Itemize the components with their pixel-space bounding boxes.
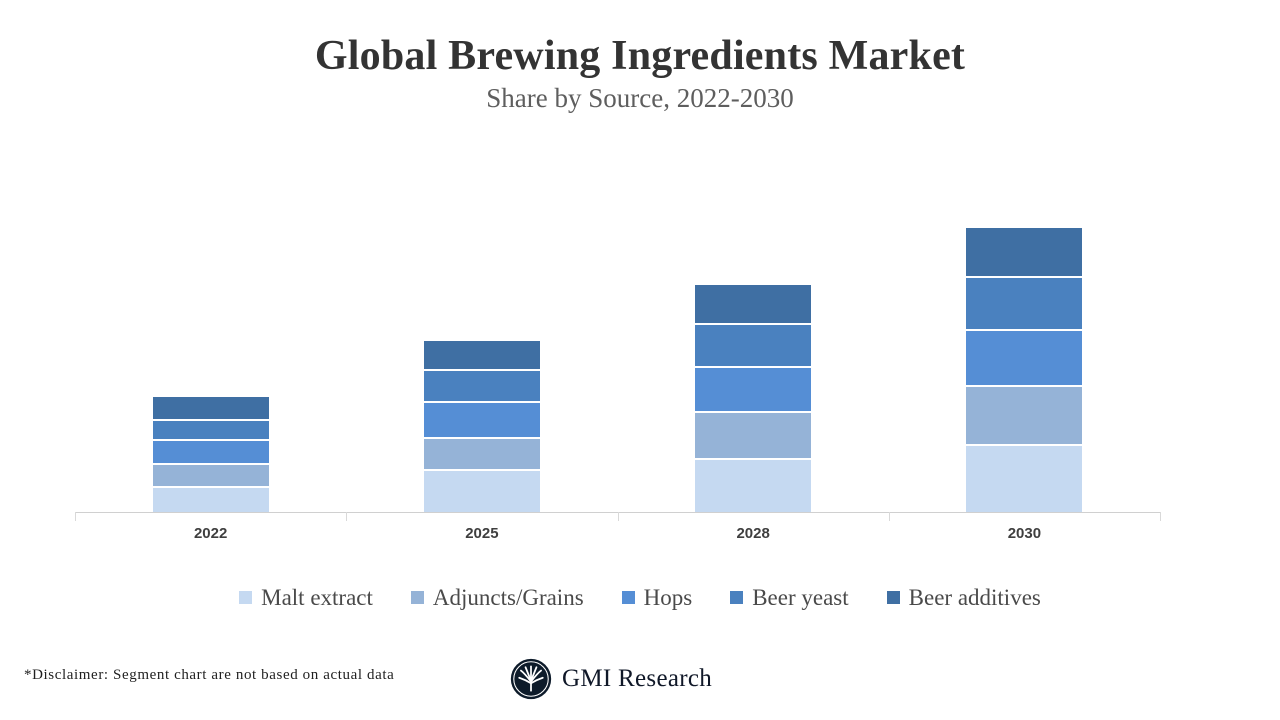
legend-label: Beer additives: [909, 586, 1041, 609]
bar-stack-2030[interactable]: [966, 228, 1082, 512]
x-axis-label-2025: 2025: [346, 525, 617, 542]
bar-segment[interactable]: [966, 331, 1082, 387]
bar-segment[interactable]: [153, 488, 269, 512]
bar-segment[interactable]: [153, 441, 269, 465]
legend-swatch-icon: [730, 591, 743, 604]
chart-title: Global Brewing Ingredients Market: [0, 34, 1280, 79]
bar-segment[interactable]: [966, 228, 1082, 278]
legend-swatch-icon: [239, 591, 252, 604]
gmi-palm-logo-icon: [510, 658, 552, 700]
legend-label: Beer yeast: [752, 586, 848, 609]
axis-tick-mark: [618, 512, 619, 521]
bar-segment[interactable]: [424, 371, 540, 404]
bar-segment[interactable]: [424, 439, 540, 472]
legend-item-2[interactable]: Hops: [622, 586, 693, 609]
legend-swatch-icon: [622, 591, 635, 604]
legend-swatch-icon: [887, 591, 900, 604]
legend-item-1[interactable]: Adjuncts/Grains: [411, 586, 584, 609]
legend-label: Hops: [644, 586, 693, 609]
bar-segment[interactable]: [695, 368, 811, 413]
axis-tick-mark: [346, 512, 347, 521]
chart-canvas: Global Brewing Ingredients Market Share …: [0, 0, 1280, 720]
bar-segment[interactable]: [695, 325, 811, 368]
axis-tick-mark: [1160, 512, 1161, 521]
legend-swatch-icon: [411, 591, 424, 604]
bar-segment[interactable]: [424, 341, 540, 371]
bar-segment[interactable]: [966, 278, 1082, 331]
bar-stack-2025[interactable]: [424, 341, 540, 512]
bar-segment[interactable]: [695, 413, 811, 459]
bar-segment[interactable]: [695, 285, 811, 325]
bar-segment[interactable]: [153, 465, 269, 488]
legend-item-0[interactable]: Malt extract: [239, 586, 373, 609]
plot-area: [75, 150, 1160, 512]
bar-segment[interactable]: [424, 403, 540, 438]
bar-segment[interactable]: [153, 421, 269, 441]
legend-item-4[interactable]: Beer additives: [887, 586, 1041, 609]
legend-label: Malt extract: [261, 586, 373, 609]
x-axis-label-2028: 2028: [618, 525, 889, 542]
legend-label: Adjuncts/Grains: [433, 586, 584, 609]
bar-segment[interactable]: [695, 460, 811, 512]
disclaimer-text: *Disclaimer: Segment chart are not based…: [24, 667, 394, 684]
chart-legend: Malt extractAdjuncts/GrainsHopsBeer yeas…: [0, 586, 1280, 609]
chart-subtitle: Share by Source, 2022-2030: [0, 83, 1280, 114]
title-block: Global Brewing Ingredients Market Share …: [0, 34, 1280, 114]
axis-tick-mark: [889, 512, 890, 521]
bar-segment[interactable]: [966, 446, 1082, 512]
bar-stack-2022[interactable]: [153, 397, 269, 512]
bar-stack-2028[interactable]: [695, 285, 811, 512]
bar-segment[interactable]: [966, 387, 1082, 446]
bar-segment[interactable]: [153, 397, 269, 421]
legend-item-3[interactable]: Beer yeast: [730, 586, 848, 609]
x-axis-label-2022: 2022: [75, 525, 346, 542]
brand-lockup: GMI Research: [510, 658, 712, 700]
brand-name: GMI Research: [562, 665, 712, 693]
bar-segment[interactable]: [424, 471, 540, 512]
x-axis-label-2030: 2030: [889, 525, 1160, 542]
axis-tick-mark: [75, 512, 76, 521]
